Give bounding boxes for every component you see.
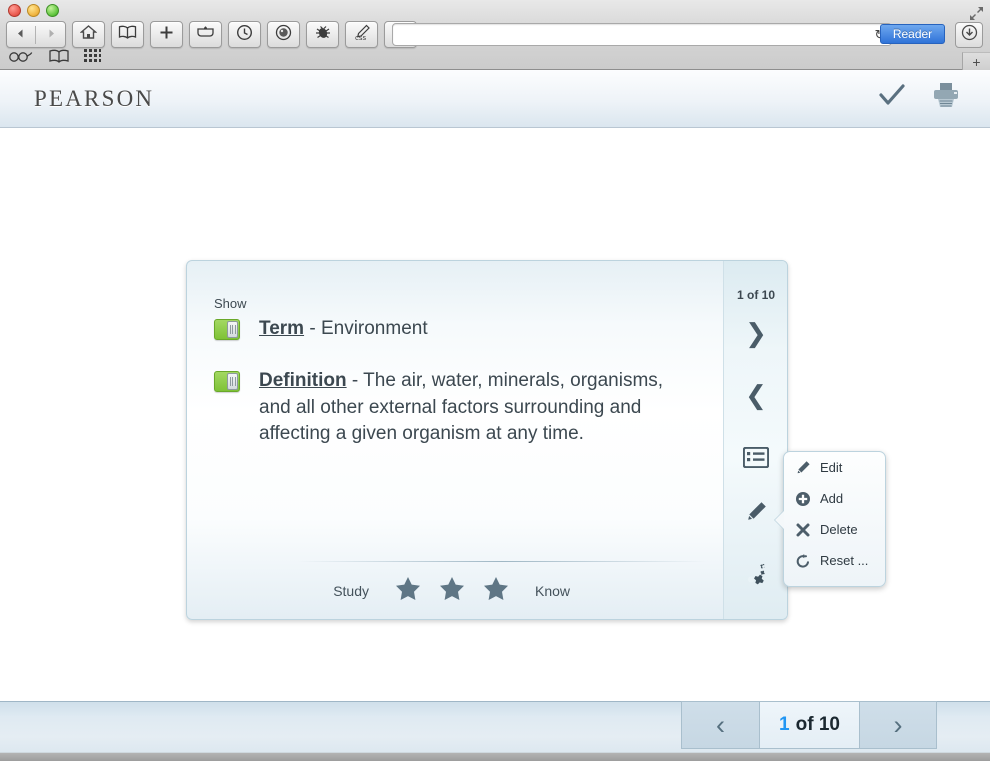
menu-item-label: Add xyxy=(820,491,843,506)
reset-arrow-icon xyxy=(795,553,811,569)
term-text: Term - Environment xyxy=(259,316,428,343)
home-icon xyxy=(80,25,97,45)
check-button[interactable] xyxy=(878,83,906,112)
new-tab-button[interactable]: + xyxy=(962,52,990,70)
pencil-icon xyxy=(795,460,811,476)
menu-item-label: Reset ... xyxy=(820,553,868,568)
pager-prev-button[interactable]: ‹ xyxy=(681,701,759,749)
pager-next-button[interactable]: › xyxy=(859,701,937,749)
term-separator: - xyxy=(304,318,321,339)
rating-row: Study Know xyxy=(297,571,727,611)
add-bookmark-button[interactable] xyxy=(150,21,183,48)
address-bar[interactable]: ↻ xyxy=(392,23,892,46)
pager-current: 1 xyxy=(779,714,790,736)
new-tab-label: + xyxy=(972,54,980,70)
star-icon[interactable] xyxy=(483,576,509,606)
settings-button[interactable] xyxy=(724,563,788,589)
home-button[interactable] xyxy=(72,21,105,48)
zoom-window-button[interactable] xyxy=(46,4,59,17)
reading-list-button[interactable] xyxy=(189,21,222,48)
definition-separator: - xyxy=(347,370,364,391)
chevron-right-icon: › xyxy=(894,710,903,741)
book-icon xyxy=(118,25,137,44)
gears-icon xyxy=(742,561,770,592)
close-window-button[interactable] xyxy=(8,4,21,17)
glasses-add-icon xyxy=(196,25,215,44)
disc-icon xyxy=(275,24,292,46)
list-view-button[interactable] xyxy=(724,447,788,473)
definition-text: Definition - The air, water, minerals, o… xyxy=(259,368,664,448)
menu-item-reset[interactable]: Reset ... xyxy=(784,545,885,576)
pager: ‹ 1 of 10 › xyxy=(681,701,937,749)
browser-toolbar: css xyxy=(6,21,417,48)
pearson-header: PEARSON xyxy=(0,70,990,128)
window-bottom-strip xyxy=(0,753,990,761)
bookmarks-button[interactable] xyxy=(111,21,144,48)
definition-row: Definition - The air, water, minerals, o… xyxy=(214,368,664,448)
glasses-icon[interactable] xyxy=(8,50,34,63)
clock-icon xyxy=(236,24,253,46)
url-input[interactable] xyxy=(393,24,869,45)
grid-icon[interactable] xyxy=(84,49,101,63)
flashcard: Show Term - Environment Definition - The… xyxy=(186,260,788,620)
pager-total: of 10 xyxy=(796,714,840,736)
toggle-knob xyxy=(227,321,238,338)
page-footer: ‹ 1 of 10 › xyxy=(0,701,990,753)
star-icon[interactable] xyxy=(439,576,465,606)
next-card-button[interactable]: ❯ xyxy=(724,319,788,347)
css-edit-button[interactable]: css xyxy=(345,21,378,48)
downloads-tray-button[interactable] xyxy=(955,22,983,48)
pager-counter: 1 of 10 xyxy=(759,701,859,749)
definition-label: Definition xyxy=(259,370,347,391)
back-icon[interactable] xyxy=(15,26,26,44)
x-icon xyxy=(795,522,811,538)
bookmarks-bar xyxy=(8,49,101,63)
page-content: PEARSON xyxy=(0,70,990,691)
pencil-icon xyxy=(744,500,768,529)
pearson-logo: PEARSON xyxy=(34,86,154,112)
study-label: Study xyxy=(297,583,369,599)
open-book-icon[interactable] xyxy=(48,49,70,63)
toolbar-separator xyxy=(35,26,36,44)
plus-circle-icon xyxy=(795,491,811,507)
flashcard-body: Show Term - Environment Definition - The… xyxy=(187,261,725,619)
card-counter: 1 of 10 xyxy=(724,288,788,302)
reader-button[interactable]: Reader xyxy=(880,24,945,44)
term-value: Environment xyxy=(321,318,428,339)
menu-item-delete[interactable]: Delete xyxy=(784,514,885,545)
card-divider xyxy=(297,561,707,562)
back-forward-button[interactable] xyxy=(6,21,66,48)
browser-chrome: css ↻ Reader xyxy=(0,0,990,70)
chevron-right-icon: ❯ xyxy=(745,318,767,349)
edit-context-menu: Edit Add Delete xyxy=(783,451,886,587)
chevron-left-icon: ❮ xyxy=(745,380,767,411)
toggle-knob xyxy=(227,373,238,390)
definition-toggle[interactable] xyxy=(214,371,240,392)
downloads-button[interactable] xyxy=(267,21,300,48)
print-button[interactable] xyxy=(932,82,960,113)
plus-icon xyxy=(159,25,174,45)
forward-icon[interactable] xyxy=(46,26,57,44)
history-button[interactable] xyxy=(228,21,261,48)
debug-button[interactable] xyxy=(306,21,339,48)
browser-window: css ↻ Reader xyxy=(0,0,990,691)
menu-item-label: Delete xyxy=(820,522,858,537)
know-label: Know xyxy=(535,583,570,599)
menu-item-add[interactable]: Add xyxy=(784,483,885,514)
star-icon[interactable] xyxy=(395,576,421,606)
header-actions xyxy=(878,82,960,113)
window-traffic-lights xyxy=(8,4,59,17)
css-pencil-icon: css xyxy=(352,23,372,47)
prev-card-button[interactable]: ❮ xyxy=(724,381,788,409)
menu-item-label: Edit xyxy=(820,460,842,475)
reader-label: Reader xyxy=(893,27,932,41)
svg-text:css: css xyxy=(355,34,366,42)
download-circle-icon xyxy=(961,24,978,46)
menu-item-edit[interactable]: Edit xyxy=(784,452,885,483)
fullscreen-icon[interactable] xyxy=(966,3,986,23)
bug-icon xyxy=(314,24,332,45)
minimize-window-button[interactable] xyxy=(27,4,40,17)
term-row: Term - Environment xyxy=(214,316,428,343)
chevron-left-icon: ‹ xyxy=(716,710,725,741)
star-rating[interactable] xyxy=(395,576,509,606)
term-label: Term xyxy=(259,318,304,339)
card-rail: 1 of 10 ❯ ❮ xyxy=(723,261,787,619)
term-toggle[interactable] xyxy=(214,319,240,340)
show-label: Show xyxy=(214,296,247,311)
list-icon xyxy=(743,447,769,473)
